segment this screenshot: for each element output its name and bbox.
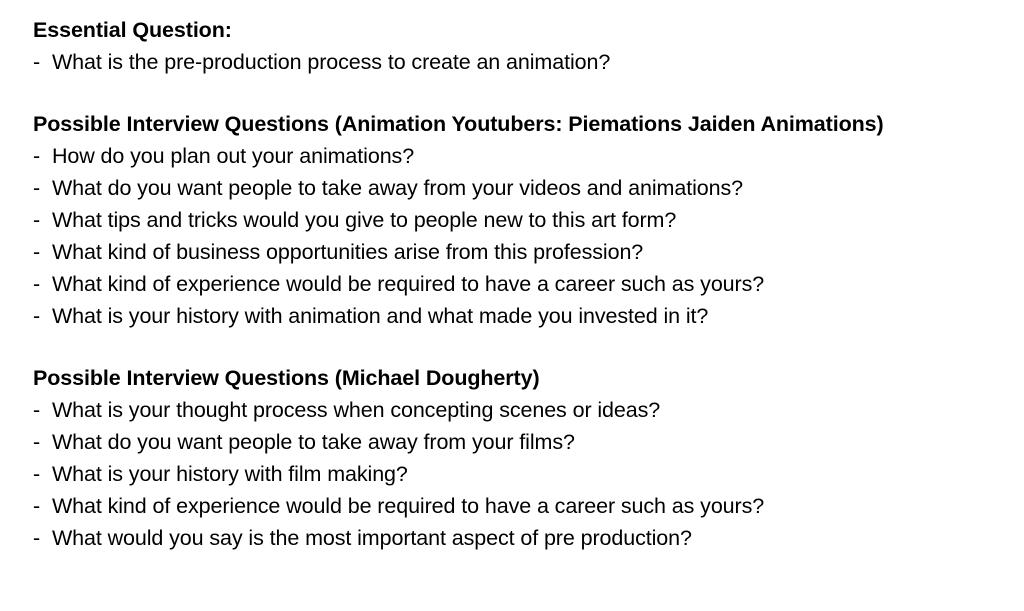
bullet-marker-icon: - bbox=[33, 46, 40, 78]
section-animation-youtubers: Possible Interview Questions (Animation … bbox=[33, 108, 1004, 332]
list-item-text: What is your thought process when concep… bbox=[52, 398, 660, 422]
list-item-text: What kind of experience would be require… bbox=[52, 272, 764, 296]
list-item-text: What do you want people to take away fro… bbox=[52, 176, 743, 200]
section-heading: Possible Interview Questions (Animation … bbox=[33, 108, 1004, 140]
list-item-text: What would you say is the most important… bbox=[52, 526, 692, 550]
question-list: - What is the pre-production process to … bbox=[33, 46, 1004, 78]
list-item-text: What is your history with animation and … bbox=[52, 304, 708, 328]
section-michael-dougherty: Possible Interview Questions (Michael Do… bbox=[33, 362, 1004, 554]
bullet-marker-icon: - bbox=[33, 490, 40, 522]
list-item: - What kind of experience would be requi… bbox=[33, 490, 1004, 522]
list-item: - What kind of experience would be requi… bbox=[33, 268, 1004, 300]
list-item: - How do you plan out your animations? bbox=[33, 140, 1004, 172]
list-item: - What do you want people to take away f… bbox=[33, 426, 1004, 458]
bullet-marker-icon: - bbox=[33, 426, 40, 458]
section-heading: Essential Question: bbox=[33, 14, 1004, 46]
bullet-marker-icon: - bbox=[33, 268, 40, 300]
question-list: - How do you plan out your animations? -… bbox=[33, 140, 1004, 332]
bullet-marker-icon: - bbox=[33, 236, 40, 268]
bullet-marker-icon: - bbox=[33, 522, 40, 554]
list-item-text: What kind of business opportunities aris… bbox=[52, 240, 643, 264]
list-item: - What would you say is the most importa… bbox=[33, 522, 1004, 554]
list-item-text: What do you want people to take away fro… bbox=[52, 430, 575, 454]
list-item: - What kind of business opportunities ar… bbox=[33, 236, 1004, 268]
list-item: - What is your thought process when conc… bbox=[33, 394, 1004, 426]
list-item-text: What is the pre-production process to cr… bbox=[52, 50, 610, 74]
bullet-marker-icon: - bbox=[33, 140, 40, 172]
bullet-marker-icon: - bbox=[33, 458, 40, 490]
section-essential-question: Essential Question: - What is the pre-pr… bbox=[33, 14, 1004, 78]
list-item-text: What kind of experience would be require… bbox=[52, 494, 764, 518]
list-item-text: How do you plan out your animations? bbox=[52, 144, 414, 168]
list-item-text: What tips and tricks would you give to p… bbox=[52, 208, 676, 232]
list-item: - What do you want people to take away f… bbox=[33, 172, 1004, 204]
document-page: Essential Question: - What is the pre-pr… bbox=[0, 0, 1024, 611]
section-heading: Possible Interview Questions (Michael Do… bbox=[33, 362, 1004, 394]
bullet-marker-icon: - bbox=[33, 300, 40, 332]
list-item: - What is your history with film making? bbox=[33, 458, 1004, 490]
list-item: - What tips and tricks would you give to… bbox=[33, 204, 1004, 236]
bullet-marker-icon: - bbox=[33, 394, 40, 426]
question-list: - What is your thought process when conc… bbox=[33, 394, 1004, 554]
bullet-marker-icon: - bbox=[33, 172, 40, 204]
list-item-text: What is your history with film making? bbox=[52, 462, 408, 486]
bullet-marker-icon: - bbox=[33, 204, 40, 236]
list-item: - What is your history with animation an… bbox=[33, 300, 1004, 332]
list-item: - What is the pre-production process to … bbox=[33, 46, 1004, 78]
